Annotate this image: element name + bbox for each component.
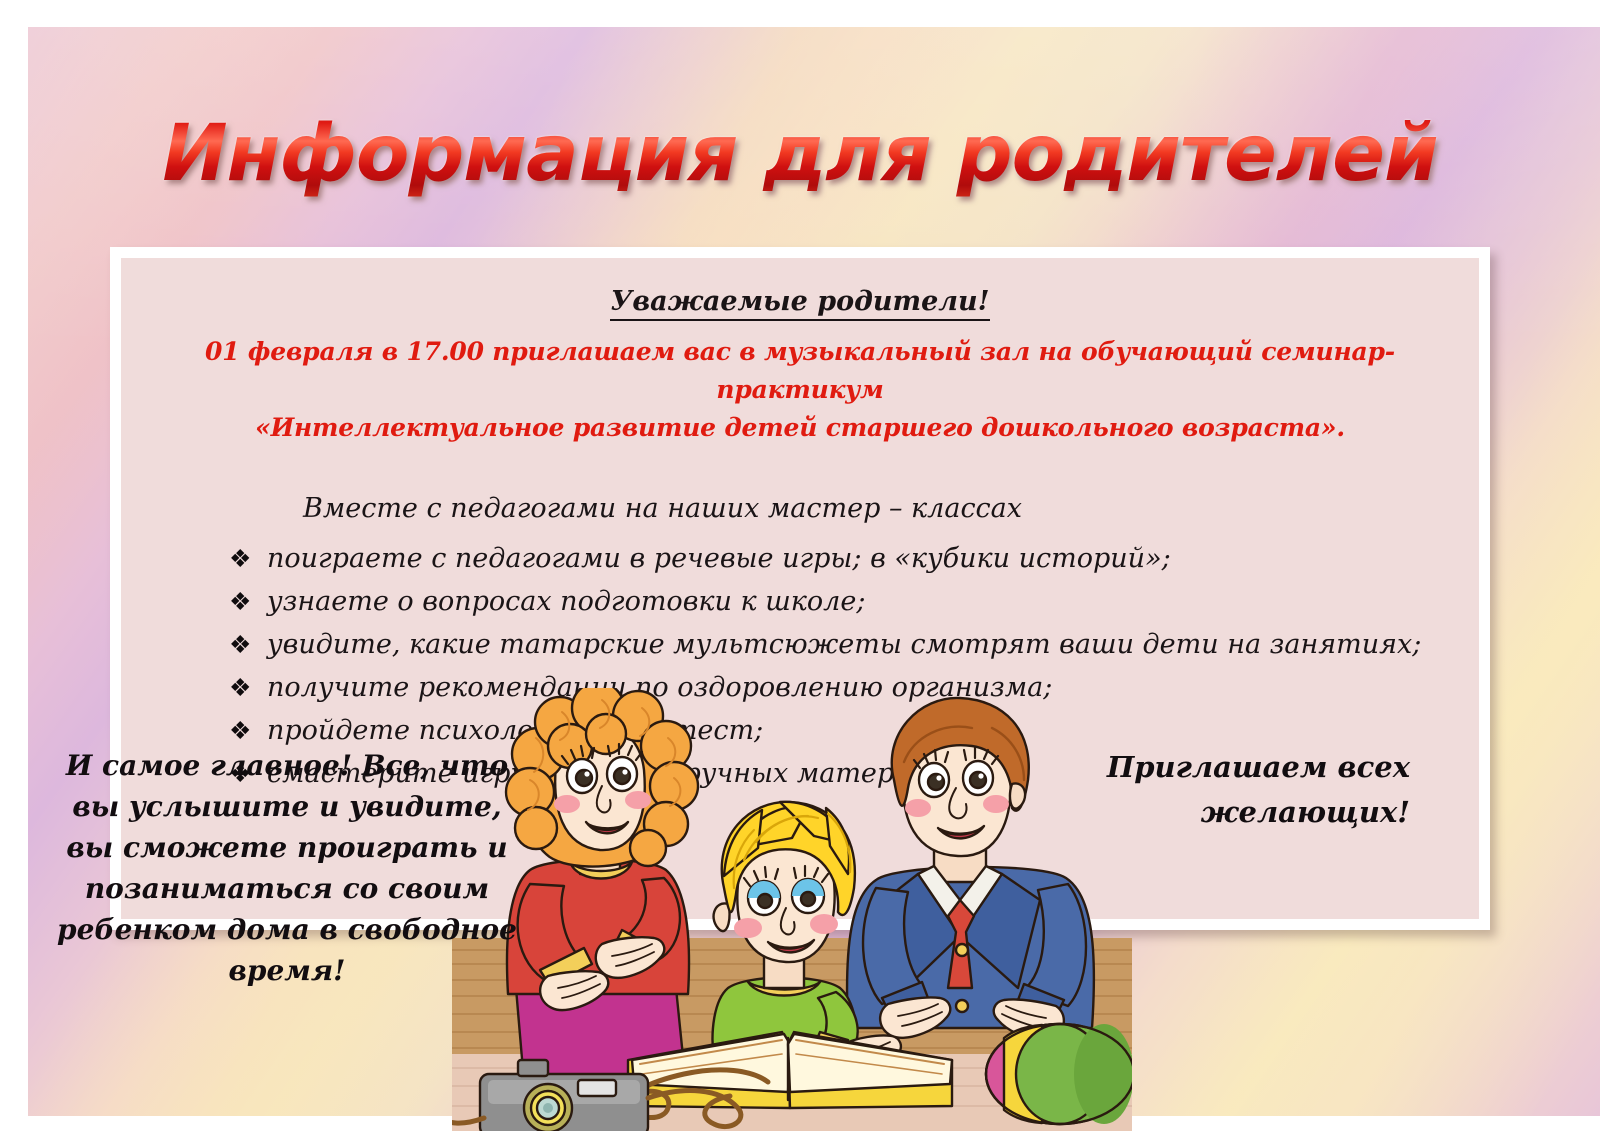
salutation: Уважаемые родители!	[121, 258, 1479, 319]
mother-figure	[506, 688, 698, 1106]
ball	[986, 1024, 1132, 1124]
page-title: Информация для родителей	[0, 108, 1600, 200]
list-item-label: поиграете с педагогами в речевые игры; в…	[267, 543, 1171, 574]
family-illustration	[452, 688, 1132, 1131]
diamond-bullet-icon: ❖	[229, 623, 251, 666]
list-item: ❖ увидите, какие татарские мультсюжеты с…	[229, 623, 1479, 666]
closing-note-left: И самое главное! Все, что вы услышите и …	[52, 745, 522, 991]
list-item: ❖ поиграете с педагогами в речевые игры;…	[229, 537, 1479, 580]
list-item: ❖ узнаете о вопросах подготовки к школе;	[229, 580, 1479, 623]
list-item-label: увидите, какие татарские мультсюжеты смо…	[267, 629, 1421, 660]
announcement-line-1: 01 февраля в 17.00 приглашаем вас в музы…	[205, 337, 1395, 404]
intro-line: Вместе с педагогами на наших мастер – кл…	[121, 447, 1479, 527]
family-illustration-svg	[452, 688, 1132, 1131]
diamond-bullet-icon: ❖	[229, 580, 251, 623]
closing-note-right: Приглашаем всех желающих!	[1080, 745, 1410, 835]
announcement-line-2: «Интеллектуальное развитие детей старшег…	[255, 413, 1345, 442]
father-figure	[847, 698, 1094, 1040]
diamond-bullet-icon: ❖	[229, 666, 251, 709]
list-item-label: узнаете о вопросах подготовки к школе;	[267, 586, 865, 617]
salutation-text: Уважаемые родители!	[610, 286, 989, 321]
announcement: 01 февраля в 17.00 приглашаем вас в музы…	[121, 319, 1479, 447]
poster: Информация для родителей Уважаемые родит…	[0, 0, 1600, 1131]
diamond-bullet-icon: ❖	[229, 537, 251, 580]
